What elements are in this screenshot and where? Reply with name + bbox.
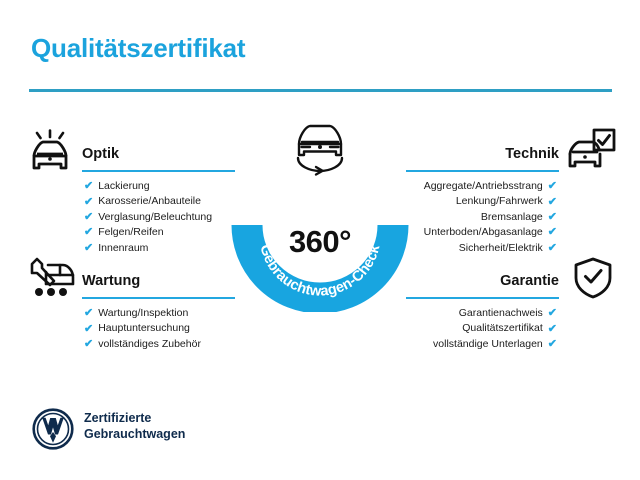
list-item: ✔Unterboden/Abgasanlage xyxy=(424,225,557,240)
check-icon: ✔ xyxy=(548,243,557,254)
check-icon: ✔ xyxy=(84,197,93,208)
check-icon: ✔ xyxy=(84,324,93,335)
checklist: ✔Lackierung ✔Karosserie/Anbauteile ✔Verg… xyxy=(84,179,212,256)
list-item: ✔Qualitätszertifikat xyxy=(433,321,557,336)
car-wrench-icon xyxy=(26,256,78,300)
list-item-label: Garantienachweis xyxy=(459,306,543,321)
list-item-label: vollständiges Zubehör xyxy=(98,337,201,352)
list-item: ✔Bremsanlage xyxy=(424,210,557,225)
certificate-page: Qualitätszertifikat xyxy=(0,0,640,480)
list-item: ✔Aggregate/Antriebsstrang xyxy=(424,179,557,194)
list-item: ✔Hauptuntersuchung xyxy=(84,321,201,336)
section-divider xyxy=(82,297,235,299)
check-icon: ✔ xyxy=(548,212,557,223)
check-icon: ✔ xyxy=(548,197,557,208)
list-item-label: vollständige Unterlagen xyxy=(433,337,543,352)
section-divider xyxy=(82,170,235,172)
checklist: ✔Garantienachweis ✔Qualitätszertifikat ✔… xyxy=(433,306,557,352)
volkswagen-logo xyxy=(32,408,74,450)
check-icon: ✔ xyxy=(84,181,93,192)
list-item: ✔Sicherheit/Elektrik xyxy=(424,241,557,256)
checklist: ✔Aggregate/Antriebsstrang ✔Lenkung/Fahrw… xyxy=(424,179,557,256)
list-item-label: Sicherheit/Elektrik xyxy=(459,241,543,256)
shield-check-icon xyxy=(572,256,614,300)
check-icon: ✔ xyxy=(548,181,557,192)
list-item-label: Lackierung xyxy=(98,179,149,194)
list-item: ✔Garantienachweis xyxy=(433,306,557,321)
list-item: ✔Verglasung/Beleuchtung xyxy=(84,210,212,225)
check-icon: ✔ xyxy=(548,227,557,238)
check-icon: ✔ xyxy=(84,308,93,319)
list-item: ✔Wartung/Inspektion xyxy=(84,306,201,321)
list-item: ✔vollständige Unterlagen xyxy=(433,337,557,352)
badge-center-value: 360° xyxy=(224,224,416,260)
check-icon: ✔ xyxy=(84,227,93,238)
list-item-label: Qualitätszertifikat xyxy=(462,321,543,336)
list-item: ✔Lackierung xyxy=(84,179,212,194)
check-icon: ✔ xyxy=(548,324,557,335)
section-heading: Garantie xyxy=(500,273,559,289)
check-icon: ✔ xyxy=(84,212,93,223)
list-item-label: Innenraum xyxy=(98,241,148,256)
list-item: ✔Innenraum xyxy=(84,241,212,256)
section-divider xyxy=(406,170,559,172)
page-title: Qualitätszertifikat xyxy=(31,33,245,64)
badge-360-gebrauchtwagen-check: Gebrauchtwagen-Check 360° xyxy=(224,122,416,312)
list-item-label: Verglasung/Beleuchtung xyxy=(98,210,212,225)
car-rotate-icon xyxy=(290,122,350,178)
list-item-label: Karosserie/Anbauteile xyxy=(98,194,201,209)
section-divider xyxy=(406,297,559,299)
list-item: ✔Lenkung/Fahrwerk xyxy=(424,194,557,209)
section-heading: Wartung xyxy=(82,273,140,289)
list-item-label: Felgen/Reifen xyxy=(98,225,163,240)
check-icon: ✔ xyxy=(548,308,557,319)
car-checkbox-icon xyxy=(566,128,616,172)
check-icon: ✔ xyxy=(84,339,93,350)
list-item: ✔Karosserie/Anbauteile xyxy=(84,194,212,209)
list-item: ✔vollständiges Zubehör xyxy=(84,337,201,352)
list-item: ✔Felgen/Reifen xyxy=(84,225,212,240)
list-item-label: Hauptuntersuchung xyxy=(98,321,190,336)
check-icon: ✔ xyxy=(84,243,93,254)
list-item-label: Lenkung/Fahrwerk xyxy=(456,194,543,209)
header-divider xyxy=(29,89,612,92)
list-item-label: Aggregate/Antriebsstrang xyxy=(424,179,543,194)
section-heading: Technik xyxy=(505,146,559,162)
section-heading: Optik xyxy=(82,146,119,162)
list-item-label: Wartung/Inspektion xyxy=(98,306,188,321)
checklist: ✔Wartung/Inspektion ✔Hauptuntersuchung ✔… xyxy=(84,306,201,352)
certified-used-cars-label: Zertifizierte Gebrauchtwagen xyxy=(84,411,185,442)
list-item-label: Bremsanlage xyxy=(481,210,543,225)
list-item-label: Unterboden/Abgasanlage xyxy=(424,225,543,240)
car-shine-icon xyxy=(26,128,74,172)
check-icon: ✔ xyxy=(548,339,557,350)
